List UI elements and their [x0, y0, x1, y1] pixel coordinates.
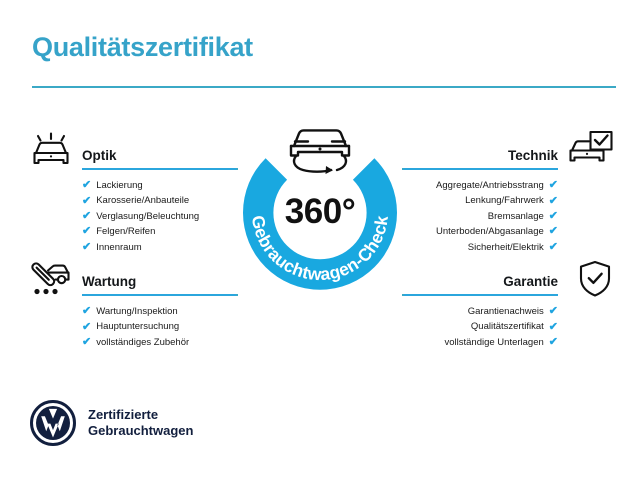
page-title: Qualitätszertifikat	[32, 32, 253, 63]
footer-text: Zertifizierte Gebrauchtwagen	[88, 407, 193, 439]
section-wartung-list: ✔ Wartung/Inspektion ✔ Hauptuntersuchung…	[82, 304, 236, 350]
shield-check-icon	[572, 259, 618, 299]
car-shine-icon	[28, 130, 74, 170]
section-technik-title: Technik	[404, 148, 558, 164]
section-garantie-title: Garantie	[404, 274, 558, 290]
list-item: ✔ Lackierung	[82, 178, 236, 193]
section-wartung-divider	[82, 294, 236, 296]
check-icon: ✔	[82, 226, 91, 237]
footer-line-1: Zertifizierte	[88, 407, 193, 423]
list-item-label: Qualitätszertifikat	[471, 319, 544, 334]
section-optik: Optik ✔ Lackierung ✔ Karosserie/Anbautei…	[82, 148, 236, 255]
check-icon: ✔	[82, 211, 91, 222]
list-item: ✔ vollständiges Zubehör	[82, 335, 236, 350]
section-technik: Technik Aggregate/Antriebsstrang ✔ Lenku…	[404, 148, 558, 255]
check-icon: ✔	[82, 337, 91, 348]
section-wartung: Wartung ✔ Wartung/Inspektion ✔ Hauptunte…	[82, 274, 236, 350]
section-wartung-title: Wartung	[82, 274, 236, 290]
list-item-label: Aggregate/Antriebsstrang	[436, 178, 544, 193]
section-technik-list: Aggregate/Antriebsstrang ✔ Lenkung/Fahrw…	[404, 178, 558, 255]
list-item: ✔ Felgen/Reifen	[82, 224, 236, 239]
section-optik-divider	[82, 168, 236, 170]
check-icon: ✔	[82, 242, 91, 253]
section-optik-list: ✔ Lackierung ✔ Karosserie/Anbauteile ✔ V…	[82, 178, 236, 255]
check-icon: ✔	[82, 180, 91, 191]
list-item: Unterboden/Abgasanlage ✔	[404, 224, 558, 239]
list-item-label: Verglasung/Beleuchtung	[96, 209, 199, 224]
section-optik-title: Optik	[82, 148, 236, 164]
list-item: ✔ Innenraum	[82, 240, 236, 255]
list-item: Bremsanlage ✔	[404, 209, 558, 224]
check-icon: ✔	[549, 322, 558, 333]
list-item-label: Lackierung	[96, 178, 142, 193]
section-garantie-list: Garantienachweis ✔ Qualitätszertifikat ✔…	[404, 304, 558, 350]
list-item: Lenkung/Fahrwerk ✔	[404, 193, 558, 208]
list-item-label: Hauptuntersuchung	[96, 319, 179, 334]
list-item-label: Sicherheit/Elektrik	[468, 240, 544, 255]
check-icon: ✔	[549, 242, 558, 253]
list-item-label: vollständige Unterlagen	[444, 335, 543, 350]
header-divider	[32, 86, 616, 88]
footer-logo-lockup: Zertifizierte Gebrauchtwagen	[30, 400, 193, 446]
check-icon: ✔	[549, 196, 558, 207]
list-item-label: Karosserie/Anbauteile	[96, 193, 189, 208]
check-icon: ✔	[549, 211, 558, 222]
check-icon: ✔	[549, 306, 558, 317]
car-checkbox-icon	[568, 130, 614, 170]
check-icon: ✔	[82, 306, 91, 317]
list-item-label: Garantienachweis	[468, 304, 544, 319]
section-garantie: Garantie Garantienachweis ✔ Qualitätszer…	[404, 274, 558, 350]
list-item: ✔ Karosserie/Anbauteile	[82, 193, 236, 208]
check-icon: ✔	[82, 196, 91, 207]
list-item: ✔ Verglasung/Beleuchtung	[82, 209, 236, 224]
list-item-label: Wartung/Inspektion	[96, 304, 178, 319]
list-item-label: Innenraum	[96, 240, 141, 255]
list-item-label: Bremsanlage	[488, 209, 544, 224]
section-technik-divider	[404, 168, 558, 170]
wrench-car-icon	[28, 257, 74, 297]
check-icon: ✔	[82, 322, 91, 333]
list-item-label: Felgen/Reifen	[96, 224, 155, 239]
list-item: ✔ Wartung/Inspektion	[82, 304, 236, 319]
list-item: vollständige Unterlagen ✔	[404, 335, 558, 350]
check-icon: ✔	[549, 337, 558, 348]
list-item: Sicherheit/Elektrik ✔	[404, 240, 558, 255]
list-item: Garantienachweis ✔	[404, 304, 558, 319]
check-icon: ✔	[549, 226, 558, 237]
list-item: Qualitätszertifikat ✔	[404, 319, 558, 334]
volkswagen-logo	[30, 400, 76, 446]
list-item-label: Lenkung/Fahrwerk	[465, 193, 544, 208]
list-item: Aggregate/Antriebsstrang ✔	[404, 178, 558, 193]
list-item-label: Unterboden/Abgasanlage	[436, 224, 544, 239]
list-item: ✔ Hauptuntersuchung	[82, 319, 236, 334]
car-rotate-icon	[278, 122, 362, 180]
list-item-label: vollständiges Zubehör	[96, 335, 189, 350]
section-garantie-divider	[404, 294, 558, 296]
footer-line-2: Gebrauchtwagen	[88, 423, 193, 439]
qualitaetszertifikat-document: Qualitätszertifikat Optik ✔ Lackierung ✔	[0, 0, 640, 480]
gebrauchtwagen-check-badge: Gebrauchtwagen-Check 360°	[226, 118, 414, 306]
check-icon: ✔	[549, 180, 558, 191]
